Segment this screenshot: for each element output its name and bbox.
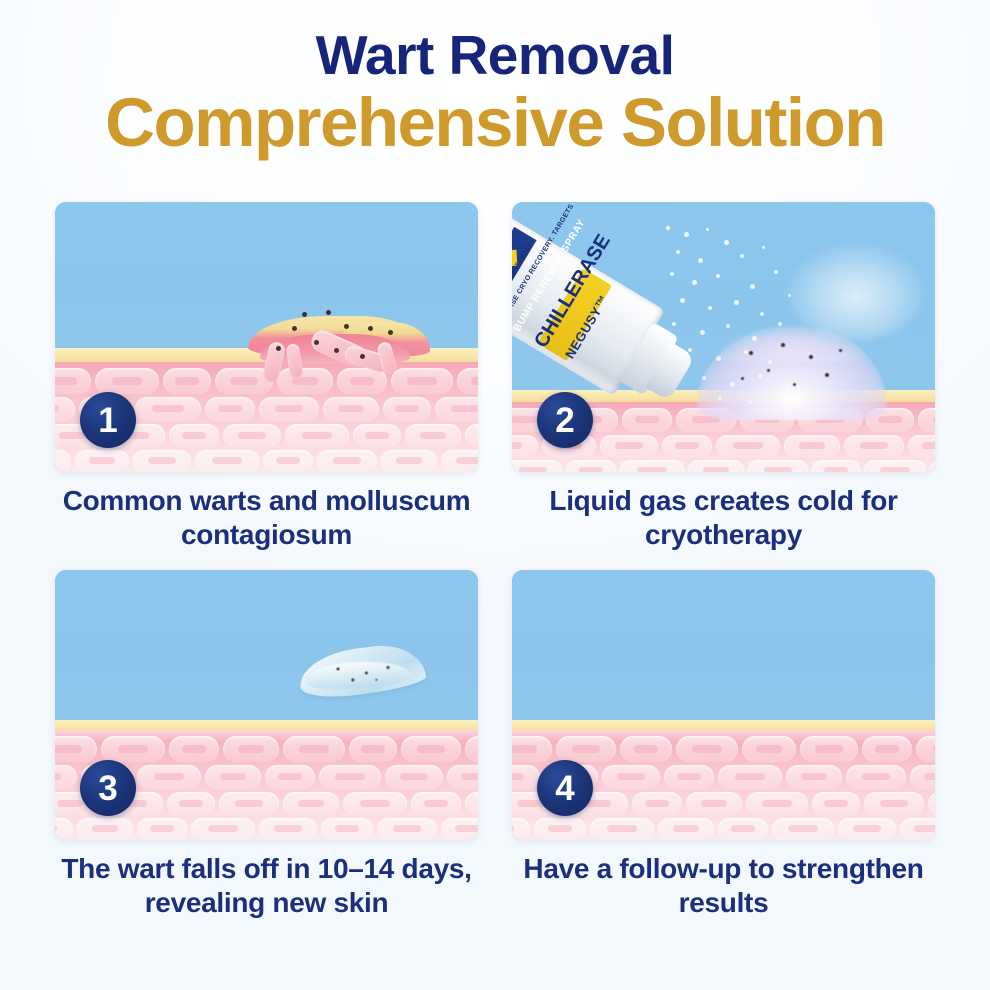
step-illustration-4: 4 <box>512 570 935 840</box>
step-illustration-3: 3 <box>55 570 478 840</box>
page-title-primary: Wart Removal <box>0 24 990 86</box>
step-number-4: 4 <box>555 771 574 806</box>
step-number-1: 1 <box>98 403 117 438</box>
step-caption-2: Liquid gas creates cold for cryotherapy <box>512 484 935 552</box>
step-number-2: 2 <box>555 403 574 438</box>
step-number-3: 3 <box>98 771 117 806</box>
step-card-3: 3 The wart falls off in 10–14 days, reve… <box>55 570 478 920</box>
step-caption-3: The wart falls off in 10–14 days, reveal… <box>55 852 478 920</box>
spray-particles <box>662 224 882 409</box>
steps-grid: 1 Common warts and molluscum contagiosum <box>55 202 935 920</box>
infographic-page: Wart Removal Comprehensive Solution <box>0 0 990 990</box>
title-block: Wart Removal Comprehensive Solution <box>0 24 990 162</box>
step-card-1: 1 Common warts and molluscum contagiosum <box>55 202 478 552</box>
step-caption-4: Have a follow-up to strengthen results <box>512 852 935 920</box>
step-badge-2: 2 <box>537 392 593 448</box>
step-illustration-1: 1 <box>55 202 478 472</box>
wart-lesion <box>248 302 423 364</box>
step-badge-1: 1 <box>80 392 136 448</box>
page-title-secondary: Comprehensive Solution <box>0 84 990 162</box>
step-badge-4: 4 <box>537 760 593 816</box>
step-caption-1: Common warts and molluscum contagiosum <box>55 484 478 552</box>
step-illustration-2: NEGUSY™ CHILLERASE BUMP RENEWAL SPRAY • … <box>512 202 935 472</box>
step-badge-3: 3 <box>80 760 136 816</box>
step-card-2: NEGUSY™ CHILLERASE BUMP RENEWAL SPRAY • … <box>512 202 935 552</box>
step-card-4: 4 Have a follow-up to strengthen results <box>512 570 935 920</box>
